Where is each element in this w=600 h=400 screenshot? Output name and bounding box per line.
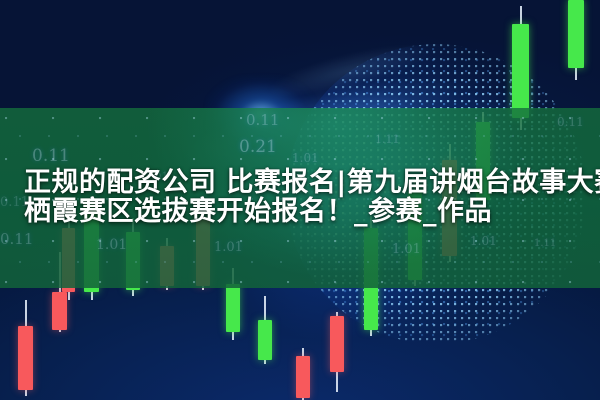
headline-line-1: 正规的配资公司 比赛报名|第九届讲烟台故事大赛 [24,167,600,198]
background-number: 0.11 [557,116,584,128]
background-number: 1.01 [214,241,243,254]
banner-image: 0.110.110.211.011.110.111.011.011.011.01… [0,0,600,400]
headline-text: 正规的配资公司 比赛报名|第九届讲烟台故事大赛暨山东省青少年成语经典故事会栖霞赛… [24,168,600,226]
background-number: 0.11 [32,148,70,165]
background-number: 1.11 [534,239,556,249]
background-number: 1.11 [375,134,400,145]
background-number: 0.21 [239,139,277,156]
background-number: 0.11 [0,232,33,247]
background-number: 1.01 [96,238,127,252]
background-number: 0.11 [246,113,279,128]
background-number: 1.01 [292,152,319,164]
headline-line-3: _参赛_作品 [354,196,492,227]
background-number: 1.01 [470,235,497,247]
background-number: 1.01 [392,243,421,256]
